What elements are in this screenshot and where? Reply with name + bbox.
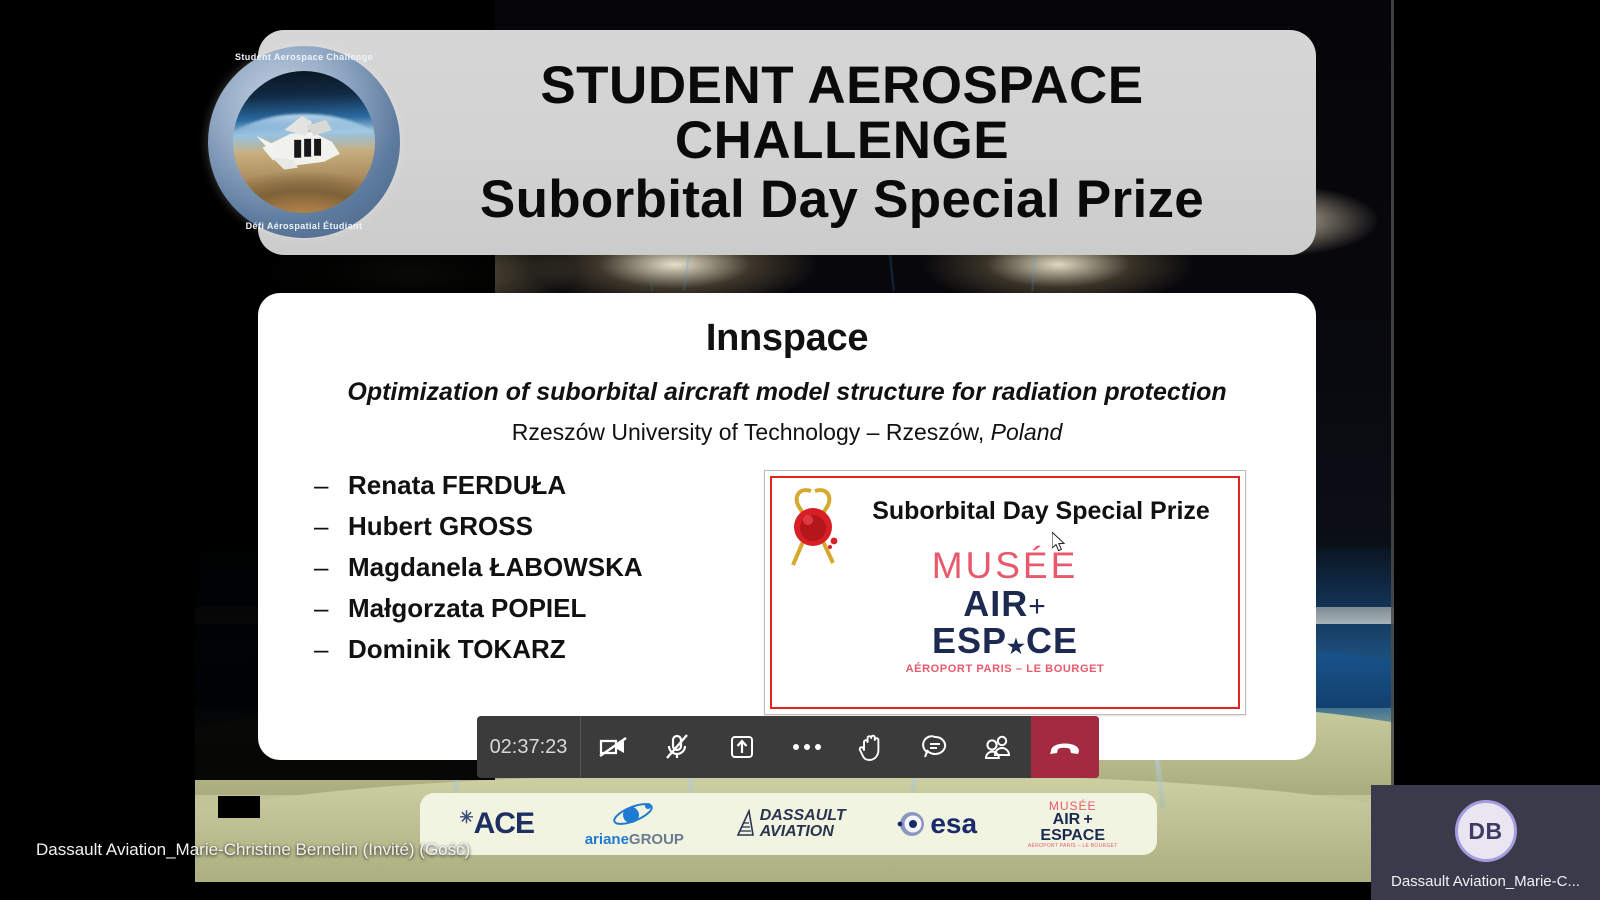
mae-musee-text: MUSÉE [1028,800,1118,812]
meeting-control-bar: 02:37:23 [477,716,1099,778]
affiliation: Rzeszów University of Technology – Rzesz… [258,419,1316,446]
feed-edge [1391,0,1394,882]
list-item: – Magdanela ŁABOWSKA [314,552,752,583]
arianegroup-logo: arianeGROUP [585,801,684,847]
esa-text: esa [930,808,977,840]
dassault-line1: DASSAULT [760,808,846,824]
avatar: DB [1455,800,1517,862]
logo-subtitle: AÉROPORT PARIS – LE BOURGET [765,664,1245,675]
esa-logo: esa [896,808,977,840]
starburst-icon: ✳ [459,808,472,828]
ellipsis-icon [793,744,821,750]
bullet-dash: – [314,470,348,501]
planet-icon [611,801,657,827]
sponsor-musee-air-espace: MUSÉE AIR + ESPACE AÉROPORT PARIS – LE B… [1028,793,1118,855]
bullet-dash: – [314,511,348,542]
logo-espace-line: ESP★CE [765,623,1245,659]
project-title: Optimization of suborbital aircraft mode… [258,378,1316,407]
banner-title-line3: Suborbital Day Special Prize [386,172,1298,227]
team-members-list: – Renata FERDUŁA – Hubert GROSS – Magdan… [282,470,752,715]
ace-logo: ✳ACE [459,807,534,841]
banner-title: STUDENT AEROSPACE CHALLENGE Suborbital D… [258,58,1316,227]
mae-espace-text: ESPACE [1028,828,1118,844]
banner-title-line2: CHALLENGE [386,113,1298,168]
call-timer: 02:37:23 [477,716,581,778]
event-banner: Student Aerospace Challenge Défi Aérospa… [258,30,1316,255]
arianegroup-text: arianeGROUP [585,832,684,847]
member-name: Renata FERDUŁA [348,470,566,501]
spaceplane-icon [253,108,355,188]
black-marker-overlay [218,796,260,818]
prize-area: Suborbital Day Special Prize MUSÉE AIR+ … [752,470,1292,715]
sponsor-ace: ✳ACE [459,793,534,855]
dassault-text: DASSAULT AVIATION [760,808,846,841]
meeting-screen: Student Aerospace Challenge Défi Aérospa… [0,0,1600,900]
logo-plus-icon: + [1028,590,1047,623]
logo-musee-text: MUSÉE [765,547,1245,584]
sponsor-bar: ✳ACE arianeGROUP [420,793,1157,855]
mae-air-text: AIR + [1028,812,1118,828]
sac-logo: Student Aerospace Challenge Défi Aérospa… [208,46,400,238]
badge-label-top: Student Aerospace Challenge [208,52,400,62]
presenter-caption: Dassault Aviation_Marie-Christine Bernel… [36,840,470,860]
bullet-dash: – [314,593,348,624]
banner-title-line1: STUDENT AEROSPACE [386,58,1298,113]
chat-icon[interactable] [903,716,967,778]
affiliation-university: Rzeszów University of Technology – Rzesz… [512,419,991,445]
hangup-button[interactable] [1031,716,1099,778]
bullet-dash: – [314,634,348,665]
member-name: Magdanela ŁABOWSKA [348,552,643,583]
dassault-line2: AVIATION [760,824,846,840]
more-options-icon[interactable] [775,716,839,778]
mouse-cursor [1052,532,1066,552]
ace-text: ACE [474,807,534,841]
logo-espace-part1: ESP [932,620,1007,661]
group-light: GROUP [629,831,684,848]
list-item: – Dominik TOKARZ [314,634,752,665]
camera-off-icon[interactable] [581,716,645,778]
mae-sponsor-logo: MUSÉE AIR + ESPACE AÉROPORT PARIS – LE B… [1028,800,1118,849]
mic-off-icon[interactable] [645,716,709,778]
logo-espace-part2: CE [1026,620,1078,661]
prize-title: Suborbital Day Special Prize [851,497,1231,526]
badge-label-bottom: Défi Aérospatial Étudiant [208,221,400,231]
participants-icon[interactable] [967,716,1031,778]
sponsor-dassault-aviation: DASSAULT AVIATION [735,793,846,855]
logo-air-text: AIR [963,583,1028,624]
slide-body: – Renata FERDUŁA – Hubert GROSS – Magdan… [258,470,1316,715]
affiliation-country: Poland [991,419,1063,445]
list-item: – Renata FERDUŁA [314,470,752,501]
ariane-bold: ariane [585,831,629,848]
list-item: – Hubert GROSS [314,511,752,542]
share-screen-icon[interactable] [709,716,775,778]
member-name: Hubert GROSS [348,511,533,542]
list-item: – Małgorzata POPIEL [314,593,752,624]
participant-tile[interactable]: DB Dassault Aviation_Marie-C... [1371,785,1600,900]
esa-globe-icon [896,809,928,839]
bullet-dash: – [314,552,348,583]
musee-air-espace-logo: MUSÉE AIR+ ESP★CE AÉROPORT PARIS – LE BO… [765,547,1245,675]
logo-air-line: AIR+ [765,586,1245,622]
team-name: Innspace [258,317,1316,360]
prize-box: Suborbital Day Special Prize MUSÉE AIR+ … [764,470,1246,715]
sponsor-esa: esa [896,793,977,855]
dassault-logo: DASSAULT AVIATION [735,808,846,841]
participant-name: Dassault Aviation_Marie-C... [1371,873,1600,890]
sponsor-arianegroup: arianeGROUP [585,793,684,855]
mae-sub-text: AÉROPORT PARIS – LE BOURGET [1028,844,1118,849]
raise-hand-icon[interactable] [839,716,903,778]
badge-artwork [233,71,375,213]
member-name: Dominik TOKARZ [348,634,566,665]
dassault-mark-icon [735,809,757,839]
star-icon: ★ [1007,636,1026,658]
member-name: Małgorzata POPIEL [348,593,586,624]
presentation-slide: Innspace Optimization of suborbital airc… [258,293,1316,760]
